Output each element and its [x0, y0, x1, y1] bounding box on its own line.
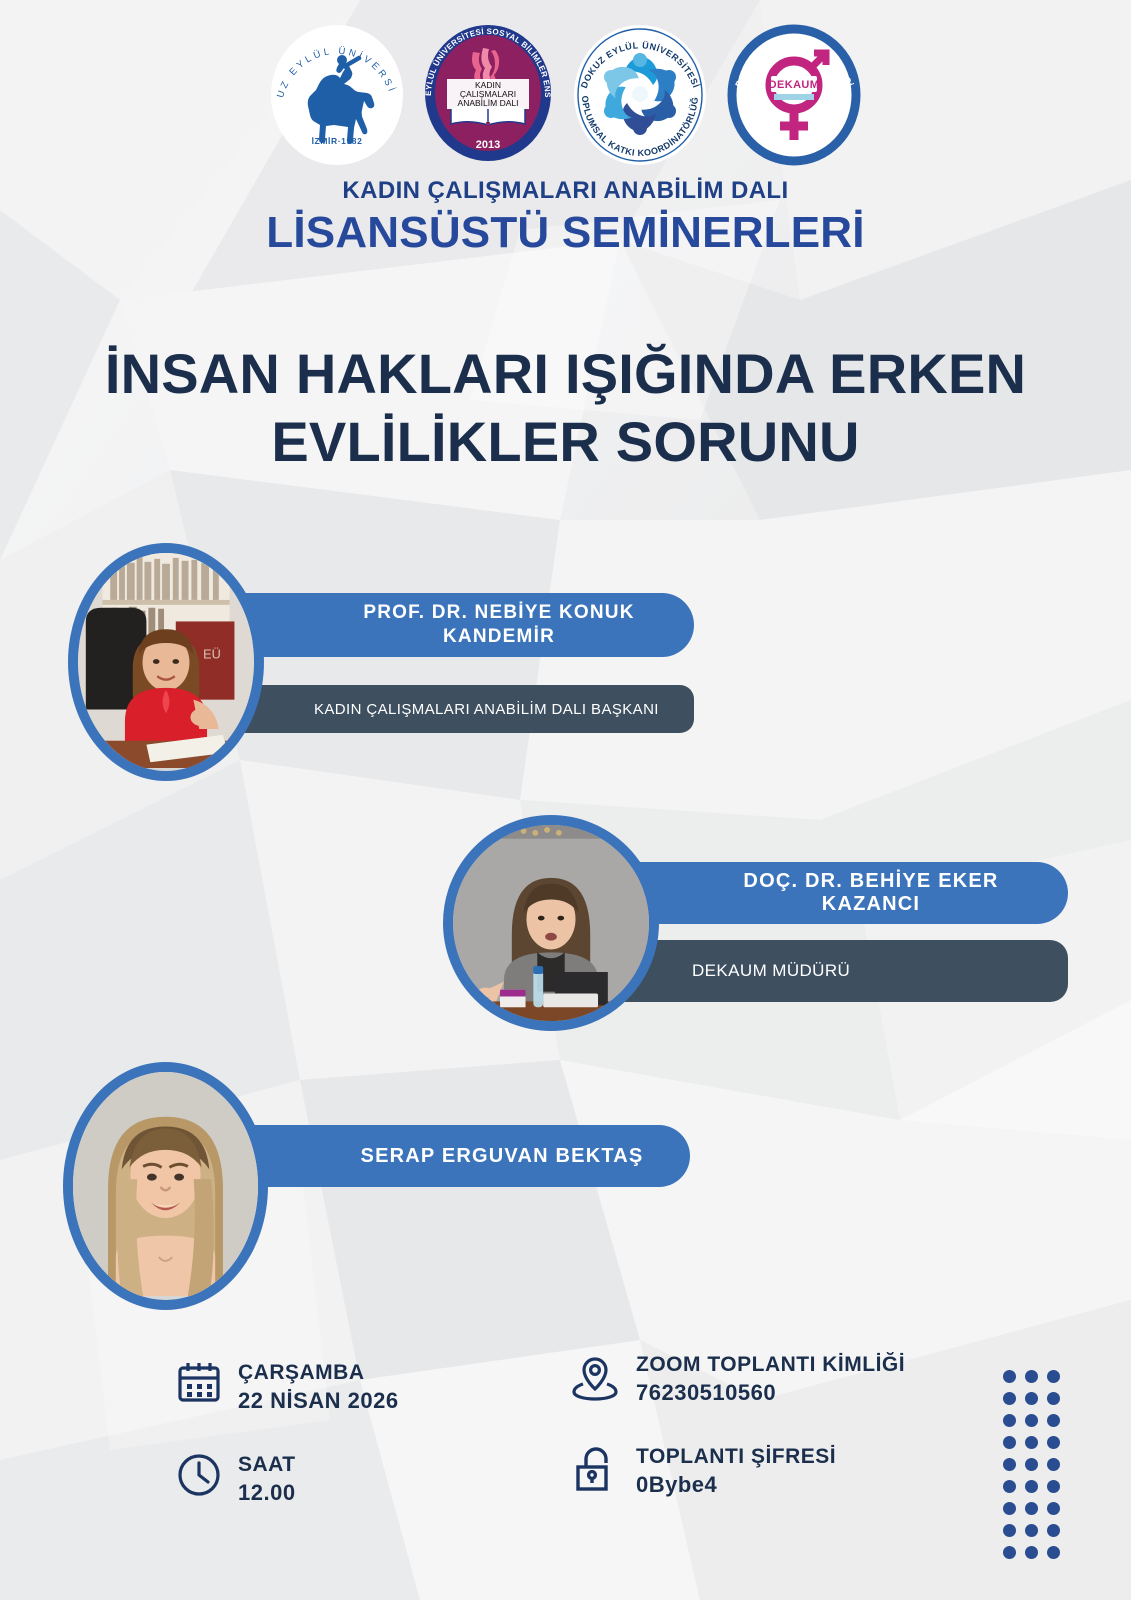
title-line-2: EVLİLİKLER SORUNU	[271, 410, 859, 473]
speaker-1-role: KADIN ÇALIŞMALARI ANABİLİM DALI BAŞKANI	[314, 701, 659, 718]
meeting-password-label: TOPLANTI ŞİFRESİ	[636, 1445, 836, 1468]
clock-icon	[176, 1452, 222, 1498]
calendar-icon	[176, 1360, 222, 1406]
header-seminars: LİSANSÜSTÜ SEMİNERLERİ	[0, 210, 1131, 256]
speaker-2-photo	[453, 825, 649, 1021]
meeting-password-info: TOPLANTI ŞİFRESİ 0Bybe4	[570, 1444, 836, 1499]
svg-text:ANABİLİM DALI: ANABİLİM DALI	[458, 98, 519, 108]
time-value: 12.00	[238, 1480, 296, 1505]
speaker-2-role: DEKAUM MÜDÜRÜ	[692, 961, 850, 981]
header-block: KADIN ÇALIŞMALARI ANABİLİM DALI LİSANSÜS…	[0, 178, 1131, 257]
title-line-1: İNSAN HAKLARI IŞIĞINDA ERKEN	[105, 342, 1026, 405]
speaker-1-name-pill: PROF. DR. NEBİYE KONUK KANDEMİR	[232, 593, 694, 657]
svg-text:İZMİR·1982: İZMİR·1982	[312, 136, 363, 146]
page-title: İNSAN HAKLARI IŞIĞINDA ERKEN EVLİLİKLER …	[60, 340, 1071, 477]
date-label: ÇARŞAMBA	[238, 1361, 365, 1384]
speaker-2-name: DOÇ. DR. BEHİYE EKER KAZANCI	[692, 870, 1050, 916]
time-label: SAAT	[238, 1453, 296, 1476]
location-pin-icon	[570, 1352, 620, 1402]
speaker-2-avatar	[443, 815, 659, 1031]
speaker-1-photo: EÜ	[78, 553, 254, 768]
speaker-1-name: PROF. DR. NEBİYE KONUK KANDEMİR	[324, 601, 674, 649]
speaker-2-role-pill: DEKAUM MÜDÜRÜ	[600, 940, 1068, 1002]
date-value: 22 NİSAN 2026	[238, 1388, 399, 1413]
sosyal-bilimler-enstitusu-logo: DOKUZ EYLÜL ÜNİVERSİTESİ SOSYAL BİLİMLER…	[421, 22, 556, 165]
speaker-3-avatar	[63, 1062, 268, 1310]
zoom-meeting-id-label: ZOOM TOPLANTI KİMLİĞİ	[636, 1353, 905, 1376]
speaker-1-role-pill: KADIN ÇALIŞMALARI ANABİLİM DALI BAŞKANI	[232, 685, 694, 733]
date-info: ÇARŞAMBA 22 NİSAN 2026	[176, 1360, 399, 1415]
time-info: SAAT 12.00	[176, 1452, 296, 1507]
zoom-meeting-id-info: ZOOM TOPLANTI KİMLİĞİ 76230510560	[570, 1352, 905, 1407]
dekaum-logo: DOKUZ EYLÜL ÜNİVERSİTESİ KADIN HAKLARI v…	[724, 22, 864, 168]
open-lock-icon	[570, 1444, 620, 1494]
zoom-meeting-id-value: 76230510560	[636, 1380, 776, 1405]
speaker-3-name: SERAP ERGUVAN BEKTAŞ	[361, 1145, 644, 1168]
svg-text:EÜ: EÜ	[203, 647, 221, 662]
meeting-password-value: 0Bybe4	[636, 1472, 717, 1497]
svg-text:2013: 2013	[476, 139, 500, 151]
speaker-1-avatar: EÜ	[68, 543, 264, 781]
speaker-2-name-pill: DOÇ. DR. BEHİYE EKER KAZANCI	[600, 862, 1068, 924]
header-kicker: KADIN ÇALIŞMALARI ANABİLİM DALI	[0, 178, 1131, 204]
svg-text:DEKAUM: DEKAUM	[769, 79, 820, 91]
logo-row: DOKUZ EYLÜL ÜNİVERSİTESİ İZMİR·1982 DOKU…	[0, 22, 1131, 168]
speaker-3-name-pill: SERAP ERGUVAN BEKTAŞ	[232, 1125, 690, 1187]
toplumsal-katki-koordinatorlugu-logo: DOKUZ EYLÜL ÜNİVERSİTESİ TOPLUMSAL KATKI…	[570, 22, 710, 168]
dot-grid-decoration	[1003, 1370, 1069, 1568]
speaker-3-photo	[73, 1072, 258, 1296]
dokuz-eylul-universitesi-logo: DOKUZ EYLÜL ÜNİVERSİTESİ İZMİR·1982	[267, 22, 407, 168]
